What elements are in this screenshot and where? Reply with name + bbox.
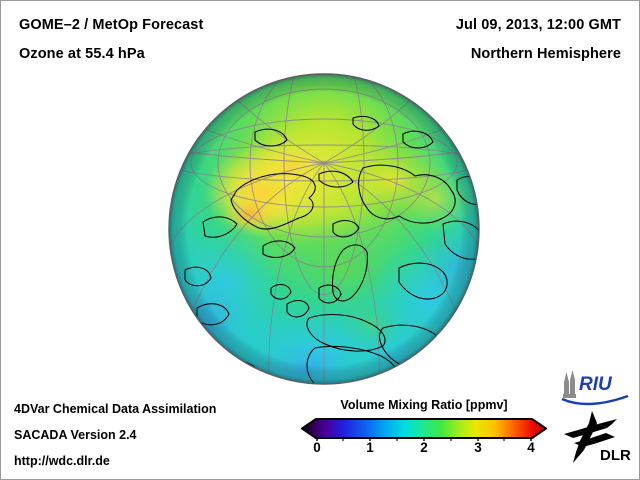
header-region: Northern Hemisphere	[471, 46, 621, 62]
footer-url-line: http://wdc.dlr.de	[14, 454, 110, 468]
cathedral-towers-icon	[563, 370, 576, 398]
dlr-logo: DLR	[562, 410, 632, 464]
footer-version-line: SACADA Version 2.4	[14, 428, 137, 442]
header-datetime: Jul 09, 2013, 12:00 GMT	[456, 17, 621, 33]
logos: RIU DLR	[556, 368, 636, 466]
footer-method-line: 4DVar Chemical Data Assimilation	[14, 402, 216, 416]
riu-logo: RIU	[558, 368, 632, 406]
colorbar-title: Volume Mixing Ratio [ppmv]	[300, 398, 548, 412]
colorbar: Volume Mixing Ratio [ppmv]	[300, 398, 548, 468]
limb-shading	[169, 74, 479, 384]
globe-disk	[167, 72, 481, 386]
dlr-logo-text: DLR	[600, 447, 631, 464]
colorbar-tick-label-0: 0	[313, 440, 321, 455]
header-instrument-line: GOME–2 / MetOp Forecast	[19, 17, 203, 33]
colorbar-tick-label-2: 2	[420, 440, 428, 455]
colorbar-gradient-bar	[300, 417, 548, 441]
header-quantity-line: Ozone at 55.4 hPa	[19, 46, 145, 62]
colorbar-tick-label-3: 3	[474, 440, 482, 455]
riu-logo-text: RIU	[579, 374, 613, 395]
colorbar-tick-label-4: 4	[527, 440, 535, 455]
ozone-globe-map	[167, 72, 481, 386]
colorbar-tick-label-1: 1	[366, 440, 374, 455]
